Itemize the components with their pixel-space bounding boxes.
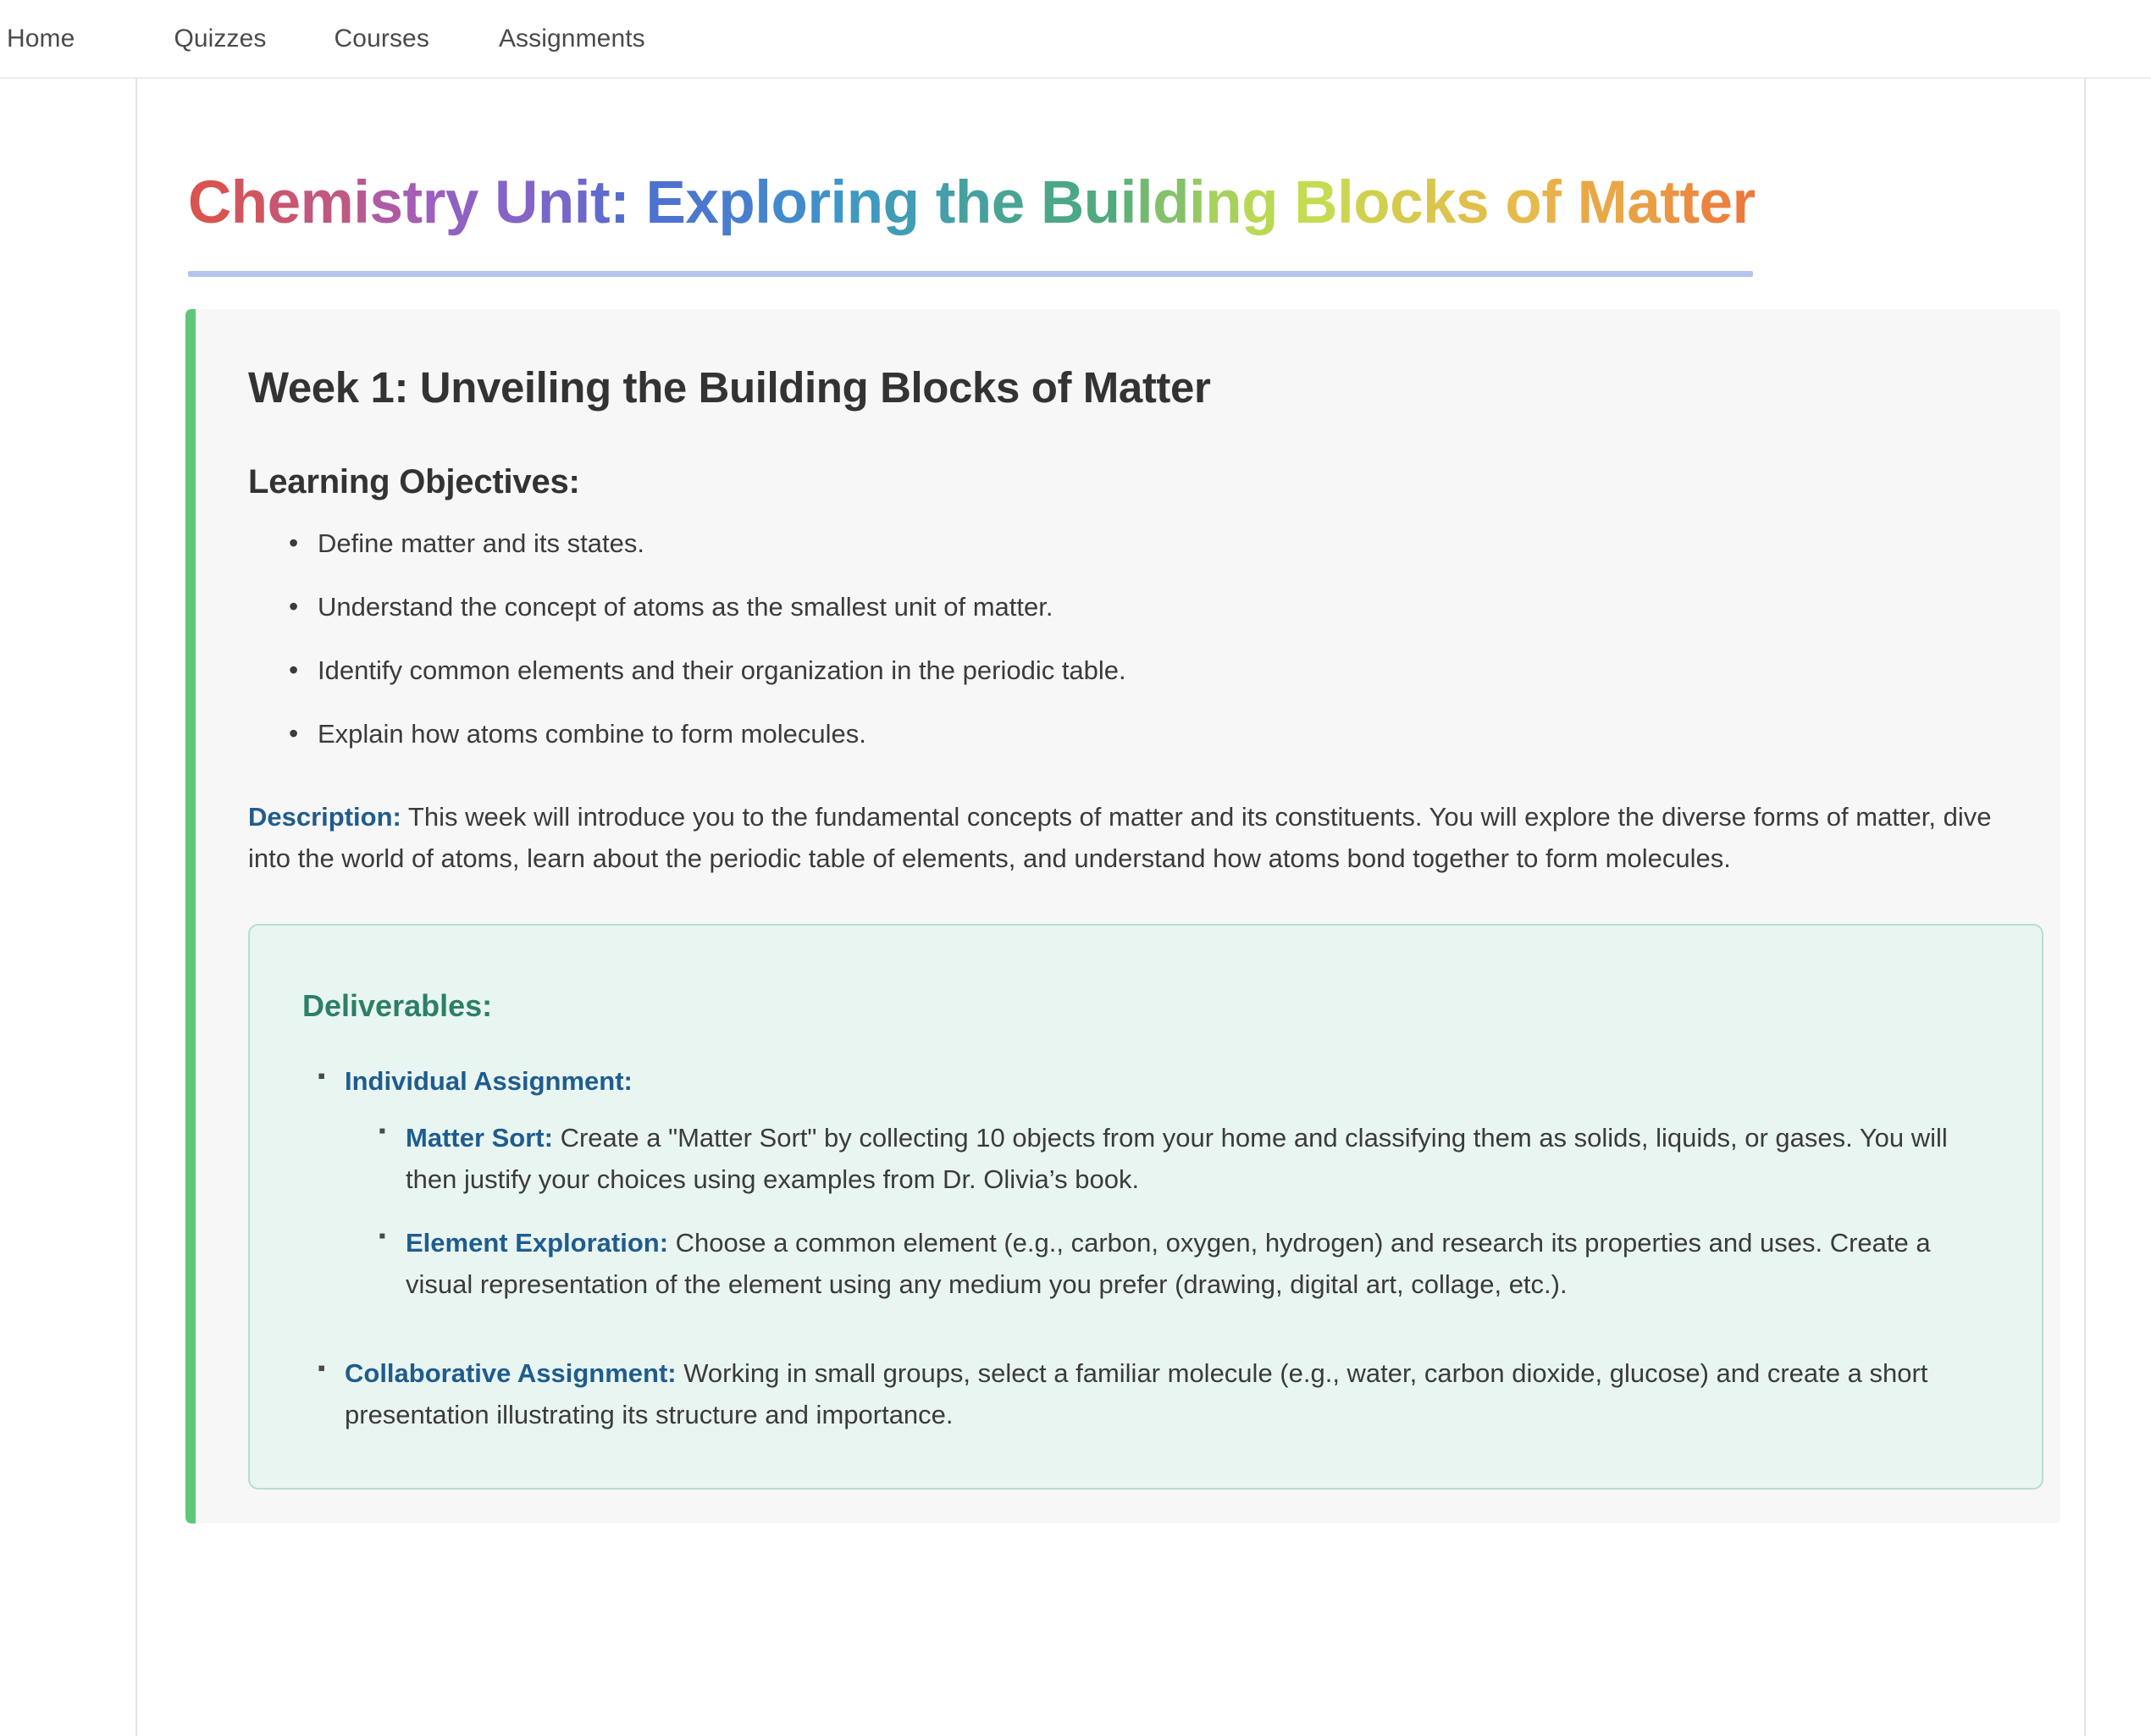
list-item: Identify common elements and their organ…: [289, 652, 2001, 690]
title-word: Unit:: [495, 172, 629, 235]
top-navigation-bar: Home Quizzes Courses Assignments: [0, 0, 2151, 79]
title-word: the: [936, 172, 1025, 235]
list-item-collaborative-assignment: Collaborative Assignment: Working in sma…: [318, 1353, 2003, 1436]
nav-item-quizzes[interactable]: Quizzes: [174, 25, 266, 53]
week-card: Week 1: Unveiling the Building Blocks of…: [185, 309, 2060, 1524]
main-content: Chemistry Unit: Exploring the Building B…: [137, 79, 2084, 1736]
description-paragraph: Description: This week will introduce yo…: [248, 796, 2001, 880]
list-item-element-exploration: Element Exploration: Choose a common ele…: [379, 1223, 2003, 1306]
content-right-divider: [2084, 79, 2086, 1736]
page-title: Chemistry Unit: Exploring the Building B…: [188, 172, 2084, 235]
individual-assignment-sublist: Matter Sort: Create a "Matter Sort" by c…: [379, 1118, 2003, 1306]
list-item: Explain how atoms combine to form molecu…: [289, 716, 2001, 754]
deliverables-heading: Deliverables:: [302, 988, 2003, 1024]
page-body: Chemistry Unit: Exploring the Building B…: [0, 79, 2151, 1736]
title-divider-rule: [188, 271, 1753, 277]
list-item-matter-sort: Matter Sort: Create a "Matter Sort" by c…: [379, 1118, 2003, 1201]
title-word: Blocks: [1294, 172, 1489, 235]
learning-objectives-list: Define matter and its states. Understand…: [289, 525, 2001, 754]
matter-sort-text: Create a "Matter Sort" by collecting 10 …: [406, 1123, 1948, 1194]
list-item: Define matter and its states.: [289, 525, 2001, 563]
title-word: Exploring: [646, 172, 920, 235]
title-word: Building: [1041, 172, 1278, 235]
nav-item-courses[interactable]: Courses: [335, 25, 429, 53]
collaborative-assignment-label: Collaborative Assignment:: [345, 1358, 677, 1388]
element-exploration-label: Element Exploration:: [406, 1228, 668, 1258]
week-title: Week 1: Unveiling the Building Blocks of…: [248, 362, 2001, 414]
nav-item-assignments[interactable]: Assignments: [499, 25, 645, 53]
learning-objectives-heading: Learning Objectives:: [248, 463, 2001, 501]
description-label: Description:: [248, 802, 401, 832]
matter-sort-label: Matter Sort:: [406, 1123, 553, 1153]
list-item-individual-assignment: Individual Assignment: Matter Sort: Crea…: [318, 1061, 2003, 1306]
description-text: This week will introduce you to the fund…: [248, 802, 1991, 874]
nav-item-home[interactable]: Home: [7, 25, 75, 53]
list-item: Understand the concept of atoms as the s…: [289, 589, 2001, 627]
deliverables-list: Individual Assignment: Matter Sort: Crea…: [318, 1061, 2003, 1436]
title-word: Matter: [1578, 172, 1756, 235]
title-word: Chemistry: [188, 172, 478, 235]
deliverables-box: Deliverables: Individual Assignment: Mat…: [248, 924, 2043, 1490]
title-word: of: [1505, 172, 1561, 235]
individual-assignment-label: Individual Assignment:: [345, 1066, 633, 1096]
